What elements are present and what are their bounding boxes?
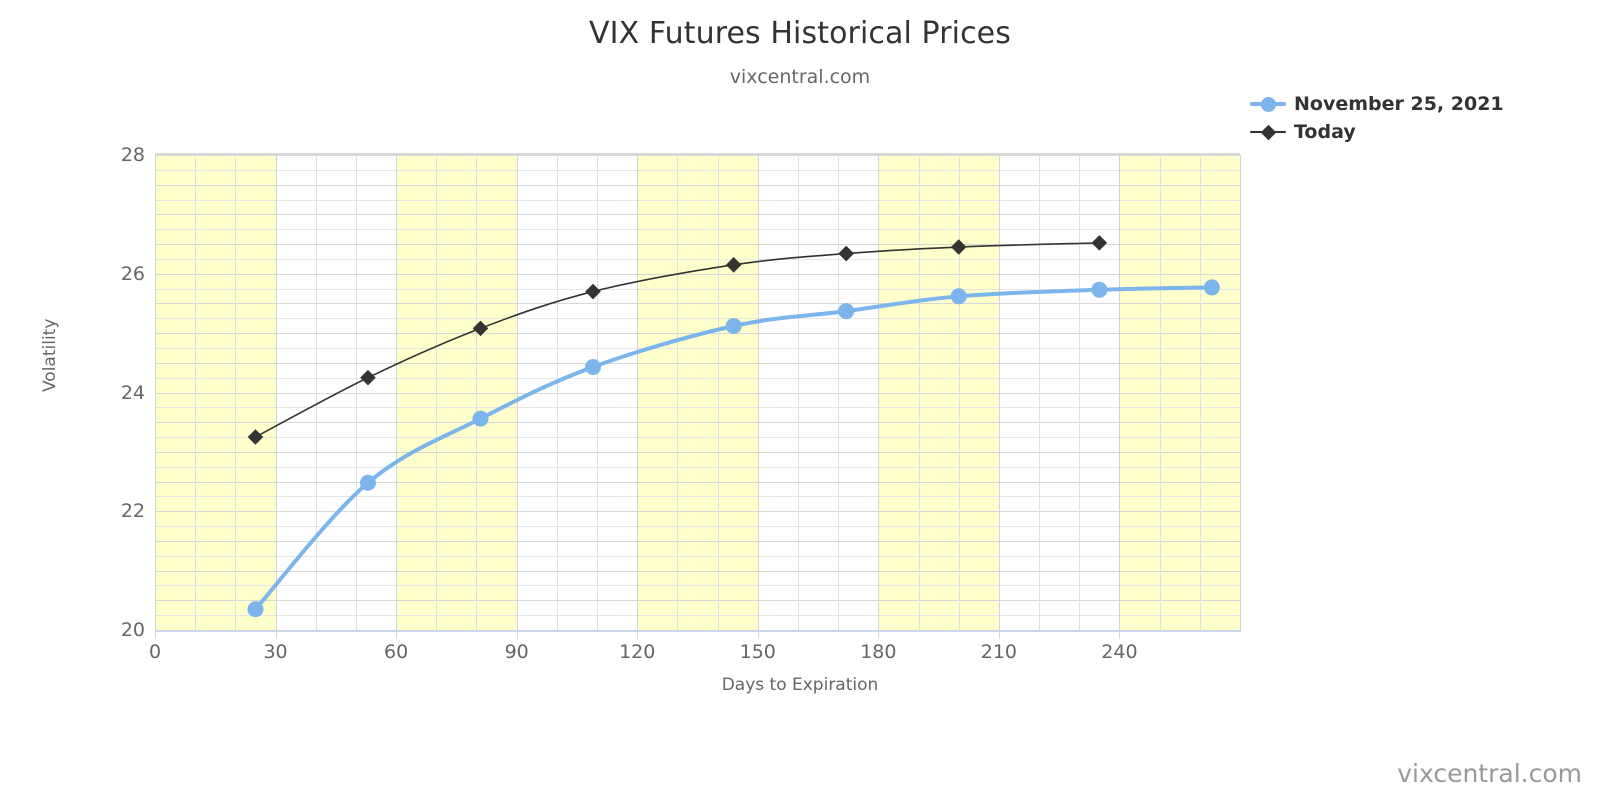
legend-item-1[interactable]: November 25, 2021 <box>1248 90 1588 118</box>
x-axis-tick-label: 30 <box>263 641 287 663</box>
x-axis-line <box>155 630 1241 632</box>
data-point-diamond[interactable] <box>1092 235 1108 251</box>
legend-item-2[interactable]: Today <box>1248 118 1588 146</box>
gridline-vertical <box>1240 155 1241 630</box>
watermark: vixcentral.com <box>1397 759 1582 788</box>
legend-circle-icon <box>1248 93 1288 115</box>
x-axis-tick-label: 240 <box>1101 641 1137 663</box>
x-axis-tick-label: 60 <box>384 641 408 663</box>
legend-label: Today <box>1294 121 1356 143</box>
data-point-circle[interactable] <box>473 411 489 427</box>
x-axis-tick <box>999 630 1000 639</box>
data-point-diamond[interactable] <box>951 239 967 255</box>
chart-legend: November 25, 2021Today <box>1248 90 1588 146</box>
x-axis-tick-label: 120 <box>619 641 655 663</box>
x-axis-tick <box>758 630 759 639</box>
chart-title: VIX Futures Historical Prices <box>0 16 1600 51</box>
y-axis-title: Volatility <box>40 319 60 392</box>
x-axis-tick-label: 0 <box>149 641 161 663</box>
legend-label: November 25, 2021 <box>1294 93 1504 115</box>
x-axis-tick <box>396 630 397 639</box>
y-axis-tick-label: 28 <box>121 144 145 166</box>
y-axis-tick-label: 26 <box>121 263 145 285</box>
data-point-circle[interactable] <box>1204 279 1220 295</box>
data-point-diamond[interactable] <box>838 246 854 262</box>
data-point-diamond[interactable] <box>585 284 601 300</box>
legend-diamond-icon <box>1248 121 1288 143</box>
chart-subtitle: vixcentral.com <box>0 66 1600 88</box>
chart-container: VIX Futures Historical Prices vixcentral… <box>0 0 1600 800</box>
x-axis-tick <box>517 630 518 639</box>
data-point-circle[interactable] <box>726 318 742 334</box>
y-axis-tick-label: 24 <box>121 382 145 404</box>
x-axis-tick-label: 90 <box>505 641 529 663</box>
data-point-circle[interactable] <box>585 359 601 375</box>
y-axis-tick-label: 20 <box>121 619 145 641</box>
data-point-circle[interactable] <box>951 288 967 304</box>
data-point-circle[interactable] <box>1091 282 1107 298</box>
series-layer <box>155 155 1240 630</box>
x-axis-tick <box>276 630 277 639</box>
series-line <box>255 287 1211 609</box>
data-point-diamond[interactable] <box>473 321 489 337</box>
data-point-circle[interactable] <box>360 475 376 491</box>
y-axis-tick-label: 22 <box>121 500 145 522</box>
data-point-diamond[interactable] <box>726 257 742 273</box>
data-point-circle[interactable] <box>247 601 263 617</box>
series-1 <box>247 279 1219 617</box>
plot-area <box>155 155 1240 630</box>
x-axis-tick-label: 210 <box>981 641 1017 663</box>
x-axis-tick <box>878 630 879 639</box>
x-axis-title: Days to Expiration <box>0 675 1600 695</box>
data-point-diamond[interactable] <box>248 429 264 445</box>
x-axis-tick <box>637 630 638 639</box>
x-axis-tick-label: 150 <box>740 641 776 663</box>
x-axis-tick-label: 180 <box>860 641 896 663</box>
x-axis-tick <box>155 630 156 639</box>
data-point-circle[interactable] <box>838 303 854 319</box>
data-point-diamond[interactable] <box>360 370 376 386</box>
x-axis-tick <box>1119 630 1120 639</box>
